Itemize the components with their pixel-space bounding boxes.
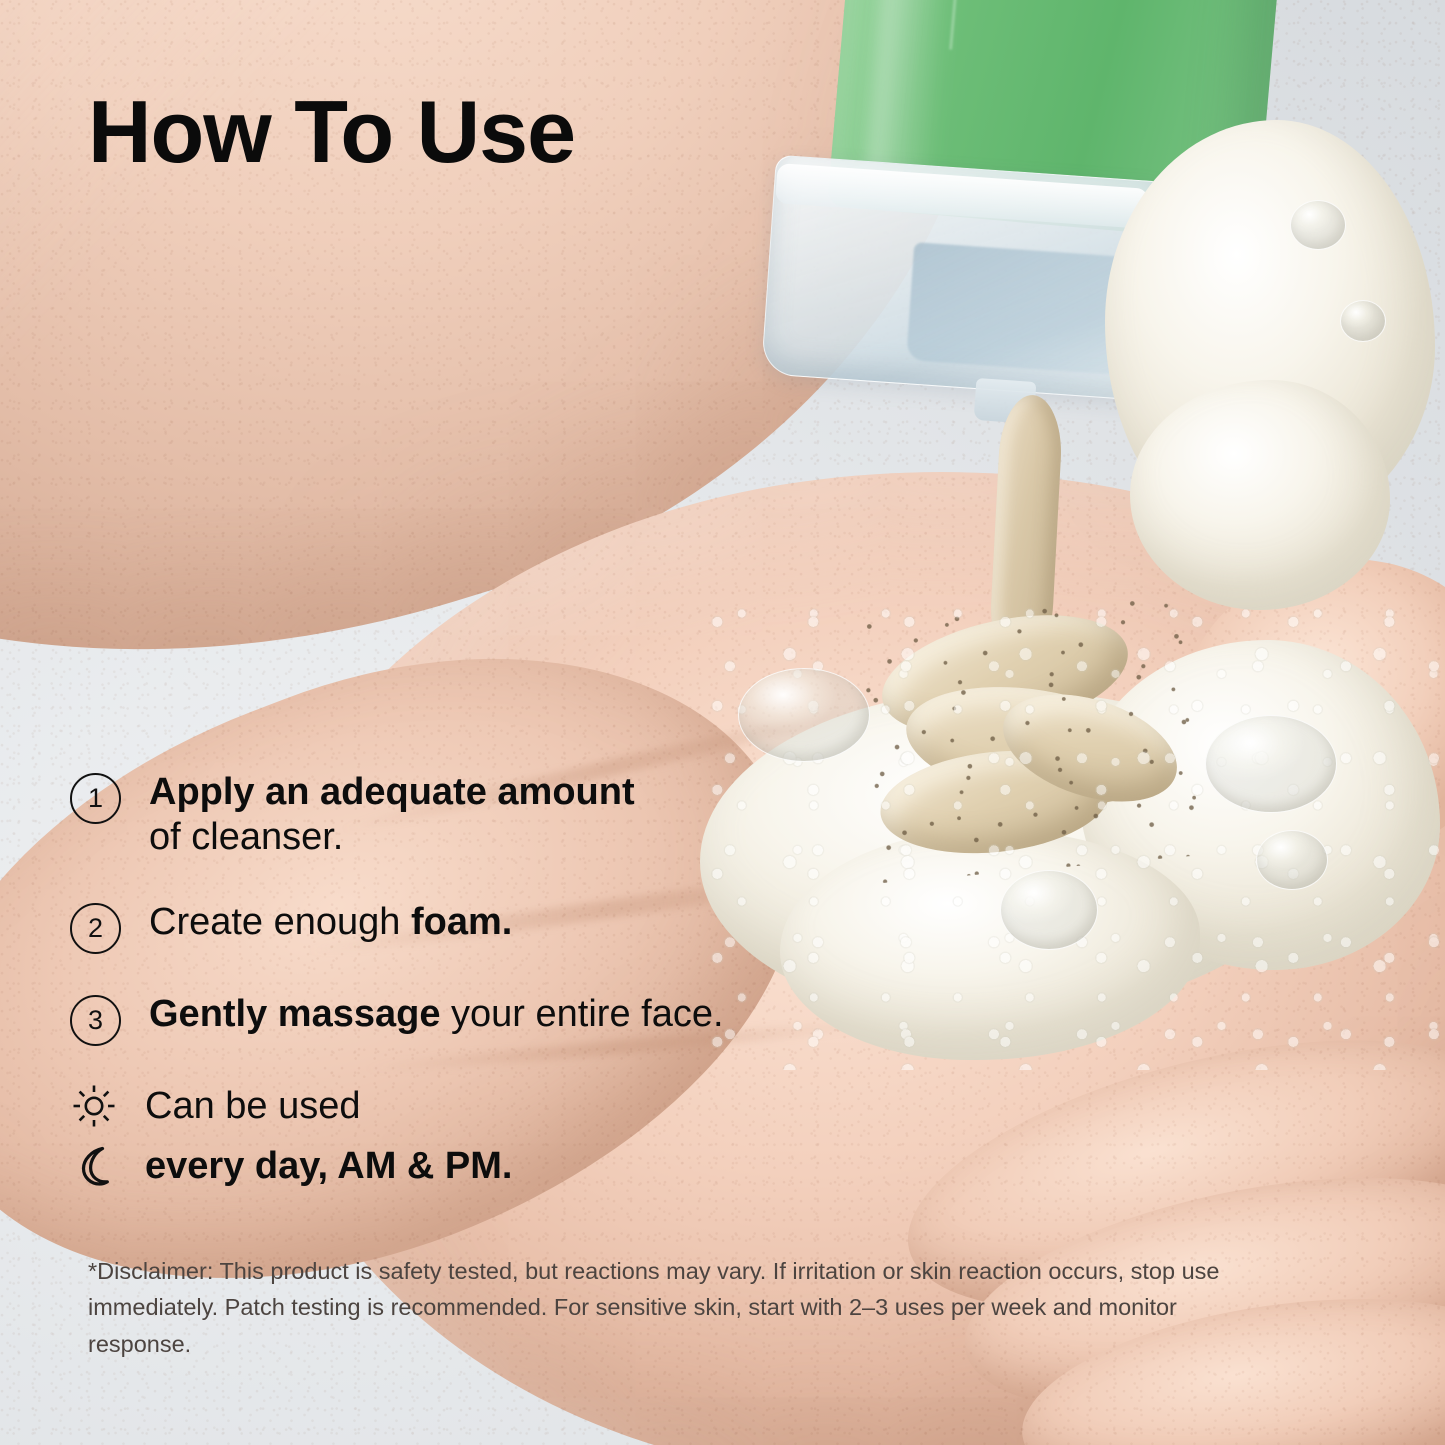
usage-frequency: Can be used every day, AM & PM.: [70, 1082, 512, 1190]
step-3-text: Gently massage your entire face.: [149, 992, 724, 1037]
step-3: 3 Gently massage your entire face.: [70, 992, 970, 1046]
step-1-rest: of cleanser.: [149, 816, 343, 858]
step-2-bold: foam.: [411, 901, 512, 943]
how-to-use-panel: How To Use 1 Apply an adequate amount of…: [0, 0, 1445, 1445]
bubble: [1000, 870, 1098, 950]
step-3-rest: your entire face.: [440, 993, 723, 1035]
bubble: [1290, 200, 1346, 250]
foam-mass: [1130, 380, 1390, 610]
bubble: [1256, 830, 1328, 890]
usage-day-row: Can be used: [70, 1082, 512, 1130]
usage-line-1: Can be used: [145, 1087, 361, 1125]
step-1-text: Apply an adequate amount of cleanser.: [149, 770, 635, 860]
step-number-badge: 3: [70, 995, 121, 1046]
moon-icon: [70, 1142, 118, 1190]
disclaimer-text: *Disclaimer: This product is safety test…: [88, 1253, 1278, 1362]
usage-night-row: every day, AM & PM.: [70, 1142, 512, 1190]
step-1: 1 Apply an adequate amount of cleanser.: [70, 770, 970, 860]
sun-icon: [70, 1082, 118, 1130]
product-photo: [0, 0, 1445, 1445]
step-3-bold: Gently massage: [149, 993, 440, 1035]
step-number-badge: 2: [70, 903, 121, 954]
bubble: [1205, 715, 1337, 813]
bubble: [738, 668, 870, 762]
step-1-bold: Apply an adequate amount: [149, 771, 635, 813]
page-title: How To Use: [88, 88, 575, 176]
step-2-lead: Create enough: [149, 901, 411, 943]
steps-list: 1 Apply an adequate amount of cleanser. …: [70, 770, 970, 1046]
step-2: 2 Create enough foam.: [70, 900, 970, 954]
usage-line-2: every day, AM & PM.: [145, 1147, 512, 1185]
step-number-badge: 1: [70, 773, 121, 824]
bubble: [1340, 300, 1386, 342]
step-2-text: Create enough foam.: [149, 900, 512, 945]
